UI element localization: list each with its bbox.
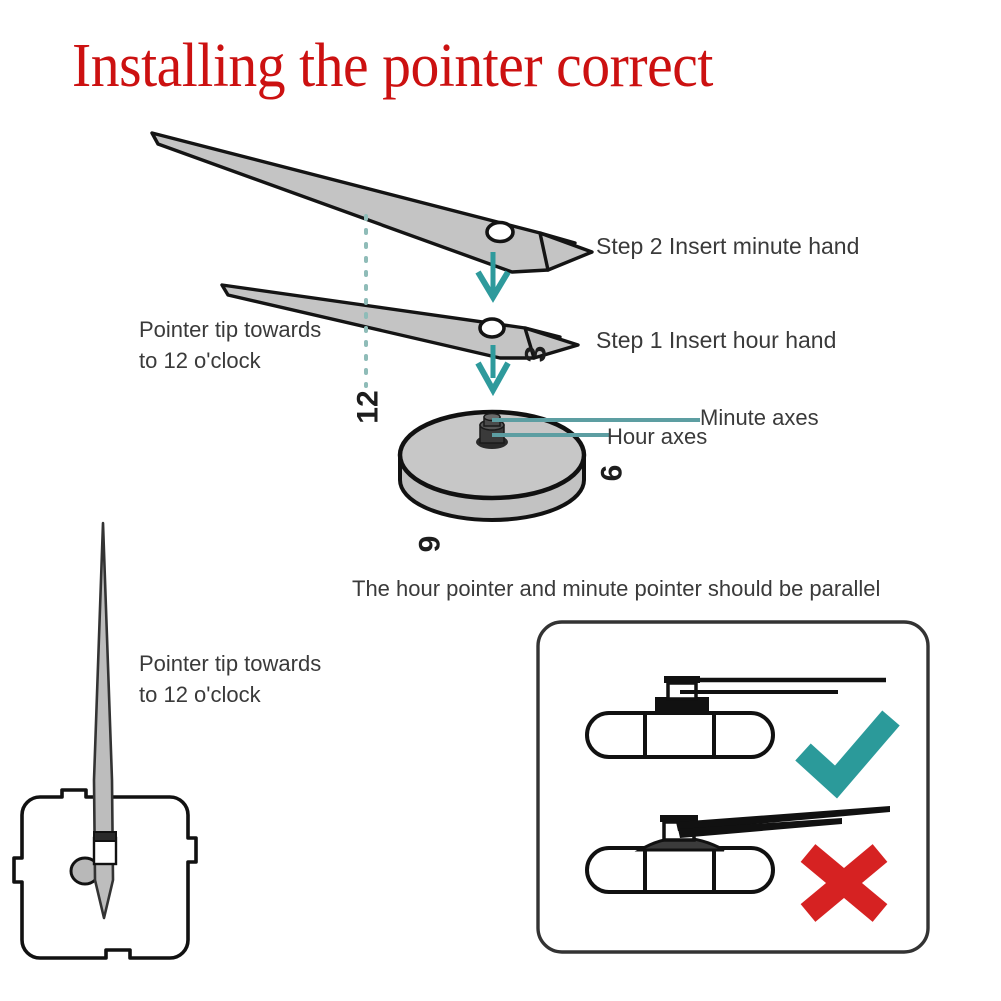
page-title: Installing the pointer correct — [72, 30, 713, 102]
minute-hand-graphic — [152, 133, 592, 272]
pointer-tip-note-top-line2: to 12 o'clock — [139, 348, 261, 373]
pointer-tip-note-bottom-line1: Pointer tip towards — [139, 651, 321, 676]
clock-number-3: 3 — [519, 346, 553, 363]
pointer-tip-note-top-line1: Pointer tip towards — [139, 317, 321, 342]
clock-number-9: 9 — [413, 536, 447, 553]
minute-axes-label: Minute axes — [700, 405, 819, 431]
pointer-tip-note-top: Pointer tip towards to 12 o'clock — [139, 314, 321, 376]
diagram-artwork — [0, 0, 1001, 1001]
instruction-diagram-page: Installing the pointer correct Step 2 In… — [0, 0, 1001, 1001]
clock-number-12: 12 — [352, 390, 386, 423]
clock-movement-cylinder — [400, 412, 584, 520]
step-1-label: Step 1 Insert hour hand — [596, 327, 836, 354]
pointer-tip-note-bottom: Pointer tip towards to 12 o'clock — [139, 648, 321, 710]
step-2-label: Step 2 Insert minute hand — [596, 233, 859, 260]
parallel-note-label: The hour pointer and minute pointer shou… — [352, 576, 880, 602]
clock-number-6: 6 — [595, 465, 629, 482]
vertical-pointer-graphic — [94, 523, 116, 918]
hour-axes-label: Hour axes — [607, 424, 707, 450]
pointer-tip-note-bottom-line2: to 12 o'clock — [139, 682, 261, 707]
